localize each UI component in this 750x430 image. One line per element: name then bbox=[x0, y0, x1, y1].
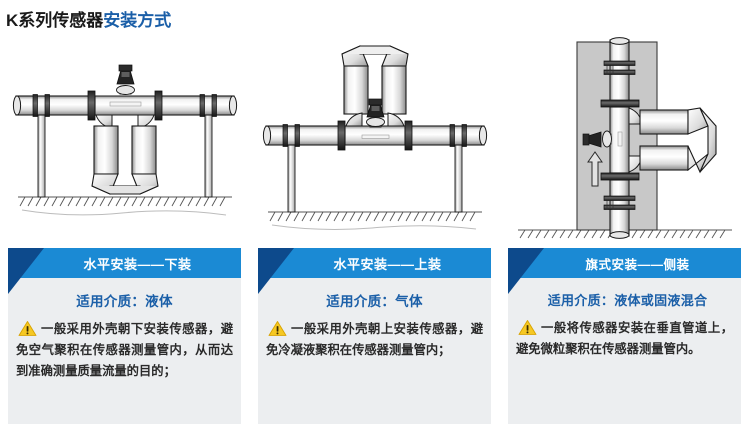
support-post-right bbox=[455, 144, 462, 212]
page-root: K系列传感器安装方式 bbox=[0, 0, 750, 430]
flange-right bbox=[155, 91, 162, 120]
flange-lower bbox=[601, 173, 639, 180]
card-header: 旗式安装——侧装 bbox=[508, 248, 741, 278]
diagram-row bbox=[0, 34, 750, 240]
info-card-horizontal-down: 水平安装——下装 适用介质：液体 一般采用外壳朝下安装传感器，避免空气聚积在传感… bbox=[8, 248, 241, 424]
support-post-left bbox=[288, 144, 295, 212]
info-card-horizontal-up: 水平安装——上装 适用介质：气体 一般采用外壳朝上安装传感器，避免冷凝液聚积在传… bbox=[258, 248, 491, 424]
warning-triangle-icon bbox=[268, 320, 287, 337]
support-post-right bbox=[205, 114, 212, 197]
flange-right bbox=[405, 121, 412, 150]
process-pipe-right bbox=[406, 125, 487, 147]
ground-hatching bbox=[268, 212, 482, 229]
card-note-block: 一般采用外壳朝上安装传感器，避免冷凝液聚积在传感器测量管内； bbox=[258, 319, 491, 361]
flange-left bbox=[88, 91, 95, 120]
card-note-text: 一般采用外壳朝上安装传感器，避免冷凝液聚积在传感器测量管内； bbox=[266, 319, 483, 361]
flange-upper bbox=[601, 100, 639, 107]
support-post-left bbox=[38, 114, 45, 197]
card-note-block: 一般将传感器安装在垂直管道上，避免微粒聚积在传感器测量管内。 bbox=[508, 318, 741, 360]
process-pipe-left bbox=[13, 95, 94, 117]
card-note-text: 一般将传感器安装在垂直管道上，避免微粒聚积在传感器测量管内。 bbox=[516, 318, 733, 360]
page-title-accent: 安装方式 bbox=[103, 6, 171, 31]
card-header: 水平安装——下装 bbox=[8, 248, 241, 278]
sensor-u-tube bbox=[342, 46, 408, 145]
corner-triangle-decoration bbox=[508, 248, 544, 294]
warning-triangle-icon bbox=[518, 319, 537, 336]
horizontal-mount-down-diagram bbox=[0, 34, 250, 240]
info-card-row: 水平安装——下装 适用介质：液体 一般采用外壳朝下安装传感器，避免空气聚积在传感… bbox=[0, 248, 750, 426]
corner-triangle-decoration bbox=[258, 248, 294, 294]
sensor-u-tube bbox=[92, 96, 158, 194]
card-note-block: 一般采用外壳朝下安装传感器，避免空气聚积在传感器测量管内，从而达到准确测量质量流… bbox=[8, 319, 241, 382]
page-title-primary: K系列传感器 bbox=[6, 6, 103, 31]
card-header-title: 水平安装——下装 bbox=[57, 254, 191, 273]
card-header-title: 水平安装——上装 bbox=[307, 254, 441, 273]
corner-triangle-decoration bbox=[8, 248, 44, 294]
card-note-text: 一般采用外壳朝下安装传感器，避免空气聚积在传感器测量管内，从而达到准确测量质量流… bbox=[16, 319, 233, 382]
card-header-title: 旗式安装——侧装 bbox=[559, 254, 689, 273]
card-header: 水平安装——上装 bbox=[258, 248, 491, 278]
page-title: K系列传感器安装方式 bbox=[6, 6, 171, 30]
sensor-body bbox=[610, 107, 716, 173]
info-card-flag-side: 旗式安装——侧装 适用介质：液体或固液混合 一般将传感器安装在垂直管道上，避免微… bbox=[508, 248, 741, 424]
flag-mount-side-diagram bbox=[500, 34, 750, 240]
horizontal-mount-up-diagram bbox=[250, 34, 500, 240]
warning-triangle-icon bbox=[18, 320, 37, 337]
flange-left bbox=[338, 121, 345, 150]
process-pipe-right bbox=[156, 95, 237, 117]
process-pipe-left bbox=[263, 125, 344, 147]
ground-hatching bbox=[18, 197, 232, 215]
